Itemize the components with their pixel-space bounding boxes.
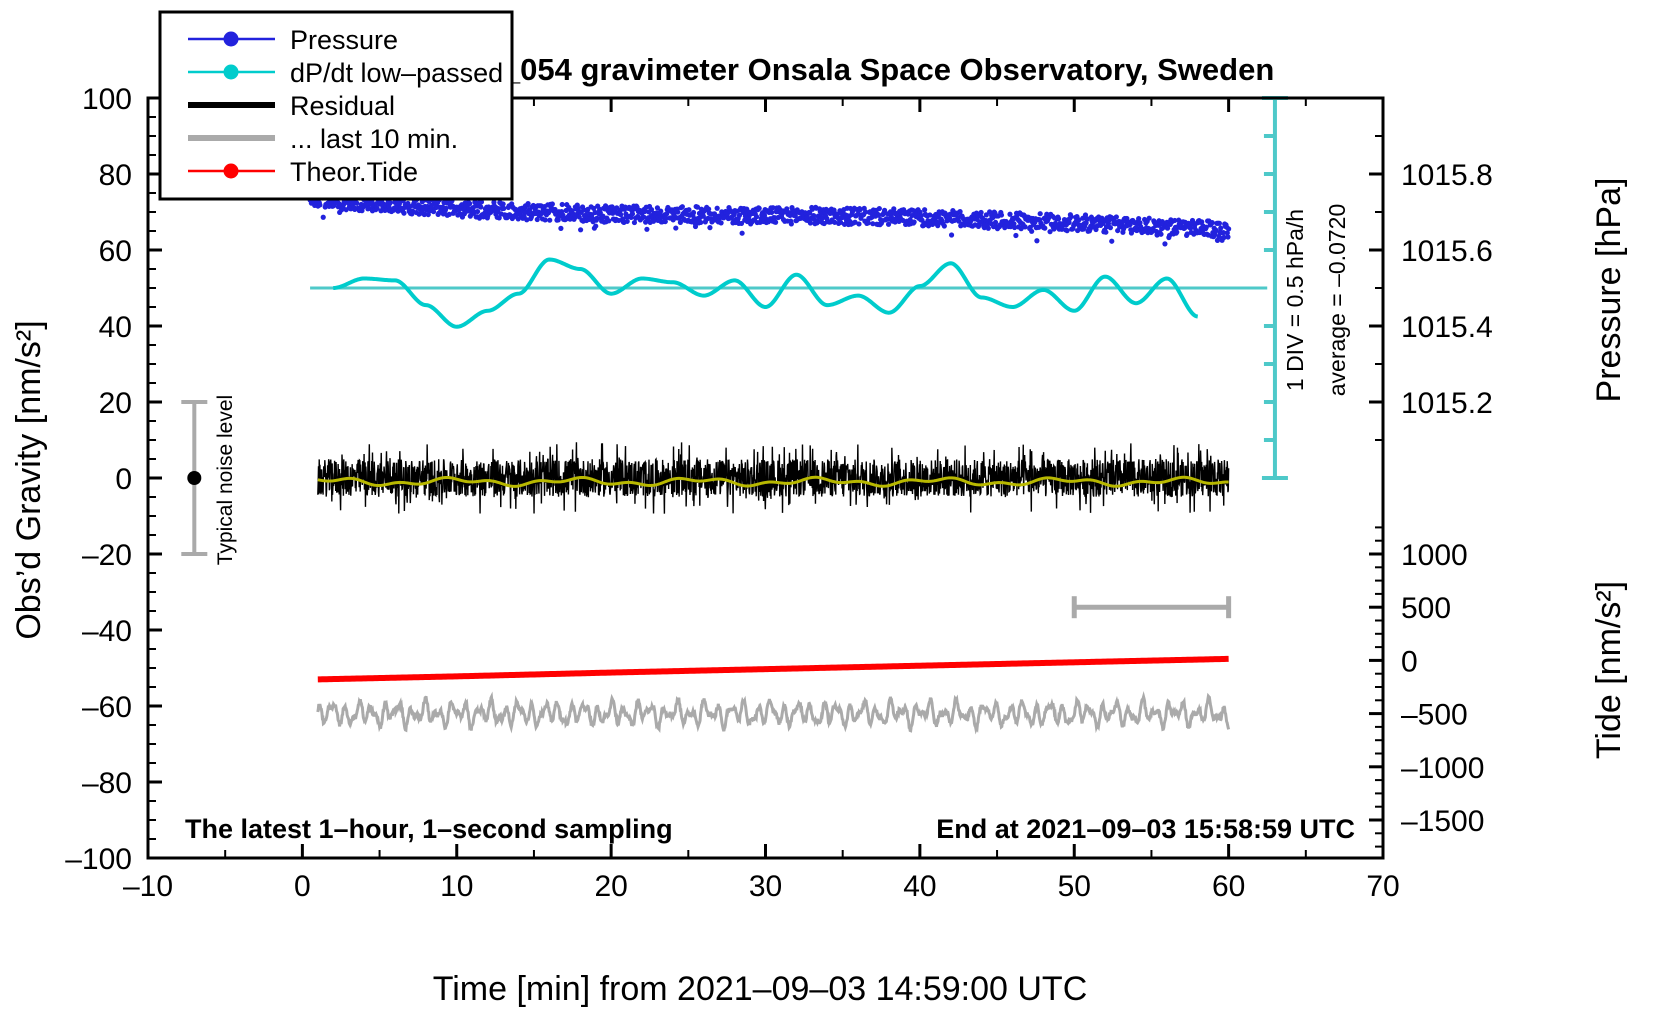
pressure-point <box>1225 234 1230 239</box>
gravimeter-plot-page: –10010203040506070–100–80–60–40–20020406… <box>0 0 1660 1020</box>
x-tick-label: 50 <box>1058 870 1091 903</box>
y-right-tide-tick-label: –1500 <box>1401 805 1484 838</box>
y-left-tick-label: –40 <box>82 615 132 648</box>
y-left-tick-label: –20 <box>82 539 132 572</box>
pressure-point <box>632 220 637 225</box>
pressure-point <box>401 211 406 216</box>
pressure-point <box>1174 230 1179 235</box>
pressure-point <box>467 201 472 206</box>
pressure-point <box>808 220 813 225</box>
dpdt-average-note: average = –0.0720 <box>1324 204 1350 396</box>
pressure-point <box>866 220 871 225</box>
pressure-point <box>877 206 882 211</box>
pressure-point <box>754 214 759 219</box>
x-tick-label: 30 <box>749 870 782 903</box>
pressure-point <box>773 220 778 225</box>
typical-noise-level-label: Typical noise level <box>214 395 237 565</box>
y-left-tick-label: 40 <box>99 311 132 344</box>
y-right-pressure-tick-label: 1015.2 <box>1401 387 1493 420</box>
pressure-point <box>719 220 724 225</box>
pressure-point <box>630 211 635 216</box>
pressure-point <box>658 209 663 214</box>
y-axis-left-title: Obs’d Gravity [nm/s²] <box>10 320 48 639</box>
x-tick-label: 0 <box>294 870 311 903</box>
pressure-point <box>680 204 685 209</box>
y-right-pressure-tick-label: 1015.6 <box>1401 235 1493 268</box>
pressure-point <box>740 231 745 236</box>
pressure-point <box>578 227 583 232</box>
pressure-point <box>1022 224 1027 229</box>
legend-swatch-marker <box>224 32 239 47</box>
pressure-point <box>606 218 611 223</box>
pressure-point <box>354 201 359 206</box>
legend-item-label: dP/dt low–passed <box>290 58 503 88</box>
pressure-point <box>321 215 326 220</box>
pressure-point <box>942 223 947 228</box>
pressure-point <box>1034 238 1039 243</box>
pressure-point <box>686 207 691 212</box>
pressure-point <box>1158 232 1163 237</box>
pressure-point <box>1226 226 1231 231</box>
y-left-tick-label: 0 <box>115 463 132 496</box>
pressure-point <box>1114 214 1119 219</box>
pressure-point <box>769 210 774 215</box>
pressure-point <box>1108 225 1113 230</box>
pressure-point <box>1038 211 1043 216</box>
footer-end-time: End at 2021–09–03 15:58:59 UTC <box>936 814 1355 844</box>
y-left-tick-label: –100 <box>65 843 132 876</box>
x-tick-label: 40 <box>903 870 936 903</box>
y-left-tick-label: 100 <box>82 83 132 116</box>
pressure-point <box>478 204 483 209</box>
x-tick-label: 60 <box>1212 870 1245 903</box>
pressure-point <box>1217 221 1222 226</box>
gravimeter-chart: –10010203040506070–100–80–60–40–20020406… <box>0 0 1660 1020</box>
pressure-point <box>979 210 984 215</box>
pressure-point <box>558 226 563 231</box>
pressure-point <box>560 202 565 207</box>
y-left-tick-label: 20 <box>99 387 132 420</box>
pressure-point <box>388 200 393 205</box>
x-tick-label: 70 <box>1366 870 1399 903</box>
pressure-point <box>1218 225 1223 230</box>
y-right-tide-tick-label: 0 <box>1401 645 1418 678</box>
pressure-point <box>1065 228 1070 233</box>
legend-item-label: Pressure <box>290 25 398 55</box>
pressure-point <box>547 218 552 223</box>
pressure-point <box>501 206 506 211</box>
pressure-point <box>475 209 480 214</box>
pressure-point <box>550 201 555 206</box>
footer-sampling-note: The latest 1–hour, 1–second sampling <box>185 814 673 844</box>
y-axis-right-pressure-title: Pressure [hPa] <box>1590 178 1628 403</box>
pressure-point <box>675 209 680 214</box>
pressure-point <box>317 202 322 207</box>
legend-swatch-marker <box>224 65 239 80</box>
y-right-pressure-tick-label: 1015.4 <box>1401 311 1493 344</box>
pressure-point <box>698 220 703 225</box>
page-title: SCG_054 gravimeter Onsala Space Observat… <box>436 52 1275 87</box>
pressure-point <box>1068 214 1073 219</box>
x-axis-title: Time [min] from 2021–09–03 14:59:00 UTC <box>433 970 1088 1008</box>
pressure-point <box>673 225 678 230</box>
pressure-point <box>1109 239 1114 244</box>
pressure-point <box>691 210 696 215</box>
x-tick-label: 20 <box>594 870 627 903</box>
noise-center-dot <box>187 471 201 485</box>
legend: PressuredP/dt low–passedResidual... last… <box>160 12 512 199</box>
y-right-tide-tick-label: –1000 <box>1401 752 1484 785</box>
legend-item-label: ... last 10 min. <box>290 124 458 154</box>
pressure-point <box>1056 216 1061 221</box>
y-left-tick-label: 80 <box>99 159 132 192</box>
pressure-point <box>443 206 448 211</box>
pressure-point <box>501 201 506 206</box>
pressure-point <box>986 226 991 231</box>
pressure-point <box>543 217 548 222</box>
y-right-tide-tick-label: 1000 <box>1401 539 1468 572</box>
pressure-point <box>922 207 927 212</box>
pressure-point <box>1147 216 1152 221</box>
pressure-point <box>1210 220 1215 225</box>
y-left-tick-label: –80 <box>82 767 132 800</box>
y-right-pressure-tick-label: 1015.8 <box>1401 159 1493 192</box>
pressure-point <box>593 223 598 228</box>
pressure-point <box>1162 241 1167 246</box>
legend-item-label: Residual <box>290 91 395 121</box>
x-tick-label: 10 <box>440 870 473 903</box>
pressure-point <box>644 227 649 232</box>
y-left-tick-label: 60 <box>99 235 132 268</box>
pressure-point <box>1103 230 1108 235</box>
y-right-tide-tick-label: –500 <box>1401 699 1468 732</box>
dpdt-scale-note: 1 DIV = 0.5 hPa/h <box>1282 209 1308 391</box>
pressure-point <box>715 206 720 211</box>
pressure-point <box>999 212 1004 217</box>
legend-swatch-marker <box>224 164 239 179</box>
y-left-tick-label: –60 <box>82 691 132 724</box>
pressure-point <box>789 221 794 226</box>
pressure-point <box>625 219 630 224</box>
pressure-point <box>1013 233 1018 238</box>
y-axis-right-tide-title: Tide [nm/s²] <box>1590 581 1628 759</box>
pressure-point <box>949 232 954 237</box>
y-right-tide-tick-label: 500 <box>1401 592 1451 625</box>
pressure-point <box>856 221 861 226</box>
pressure-point <box>707 225 712 230</box>
pressure-point <box>1029 229 1034 234</box>
pressure-point <box>525 201 530 206</box>
pressure-point <box>757 206 762 211</box>
legend-item-label: Theor.Tide <box>290 157 418 187</box>
pressure-point <box>912 219 917 224</box>
pressure-point <box>1042 226 1047 231</box>
